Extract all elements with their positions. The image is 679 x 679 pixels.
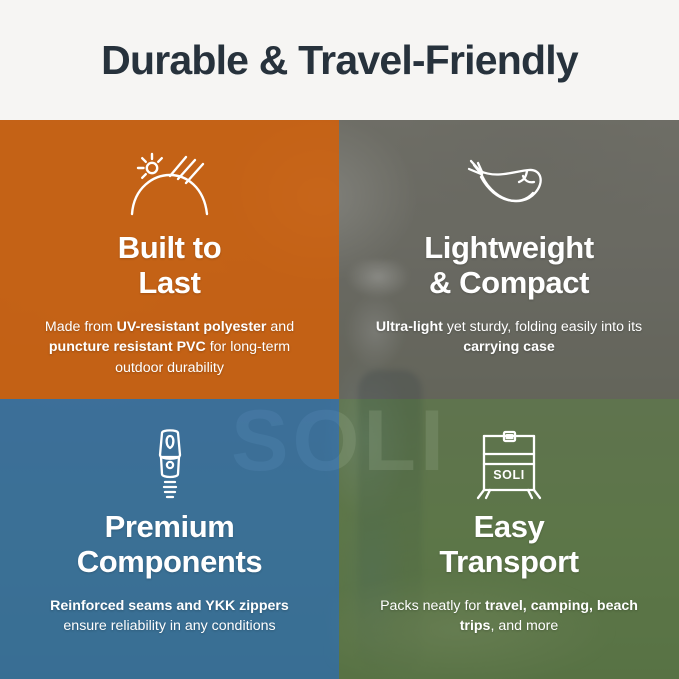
feature-description: Packs neatly for travel, camping, beach … [369, 596, 649, 637]
feature-description: Ultra-light yet sturdy, folding easily i… [369, 317, 649, 358]
feature-title-line1: Easy [474, 509, 545, 544]
feature-title: Easy Transport [439, 509, 578, 580]
carry-bag-icon: SOLI [474, 427, 544, 503]
feature-title: Lightweight & Compact [424, 230, 594, 301]
feature-title: Built to Last [118, 230, 222, 301]
feature-card-easy-transport: SOLI Easy Transport Packs neatly for tra… [339, 399, 679, 679]
feature-card-lightweight-compact: Lightweight & Compact Ultra-light yet st… [339, 120, 679, 399]
header-band: Durable & Travel-Friendly [0, 0, 679, 120]
feature-title-line2: & Compact [429, 265, 589, 300]
feature-title-line1: Built to [118, 230, 222, 265]
feature-card-premium-components: Premium Components Reinforced seams and … [0, 399, 339, 679]
feature-title: Premium Components [77, 509, 262, 580]
zipper-pull-icon [143, 427, 197, 503]
feature-description: Made from UV-resistant polyester and pun… [30, 317, 310, 379]
feature-title-line2: Transport [439, 544, 578, 579]
feature-title-line1: Lightweight [424, 230, 594, 265]
feature-grid: Built to Last Made from UV-resistant pol… [0, 120, 679, 679]
feature-card-built-to-last: Built to Last Made from UV-resistant pol… [0, 120, 339, 399]
infographic-panel: SOLI Durable & Travel-Friendly [0, 0, 679, 679]
feather-icon [461, 148, 557, 224]
feature-title-line2: Last [138, 265, 200, 300]
sun-rays-canopy-icon [124, 148, 216, 224]
icon-brand-label: SOLI [493, 468, 525, 482]
feature-title-line1: Premium [105, 509, 235, 544]
page-title: Durable & Travel-Friendly [101, 40, 578, 81]
feature-title-line2: Components [77, 544, 262, 579]
feature-description: Reinforced seams and YKK zippers ensure … [30, 596, 310, 637]
